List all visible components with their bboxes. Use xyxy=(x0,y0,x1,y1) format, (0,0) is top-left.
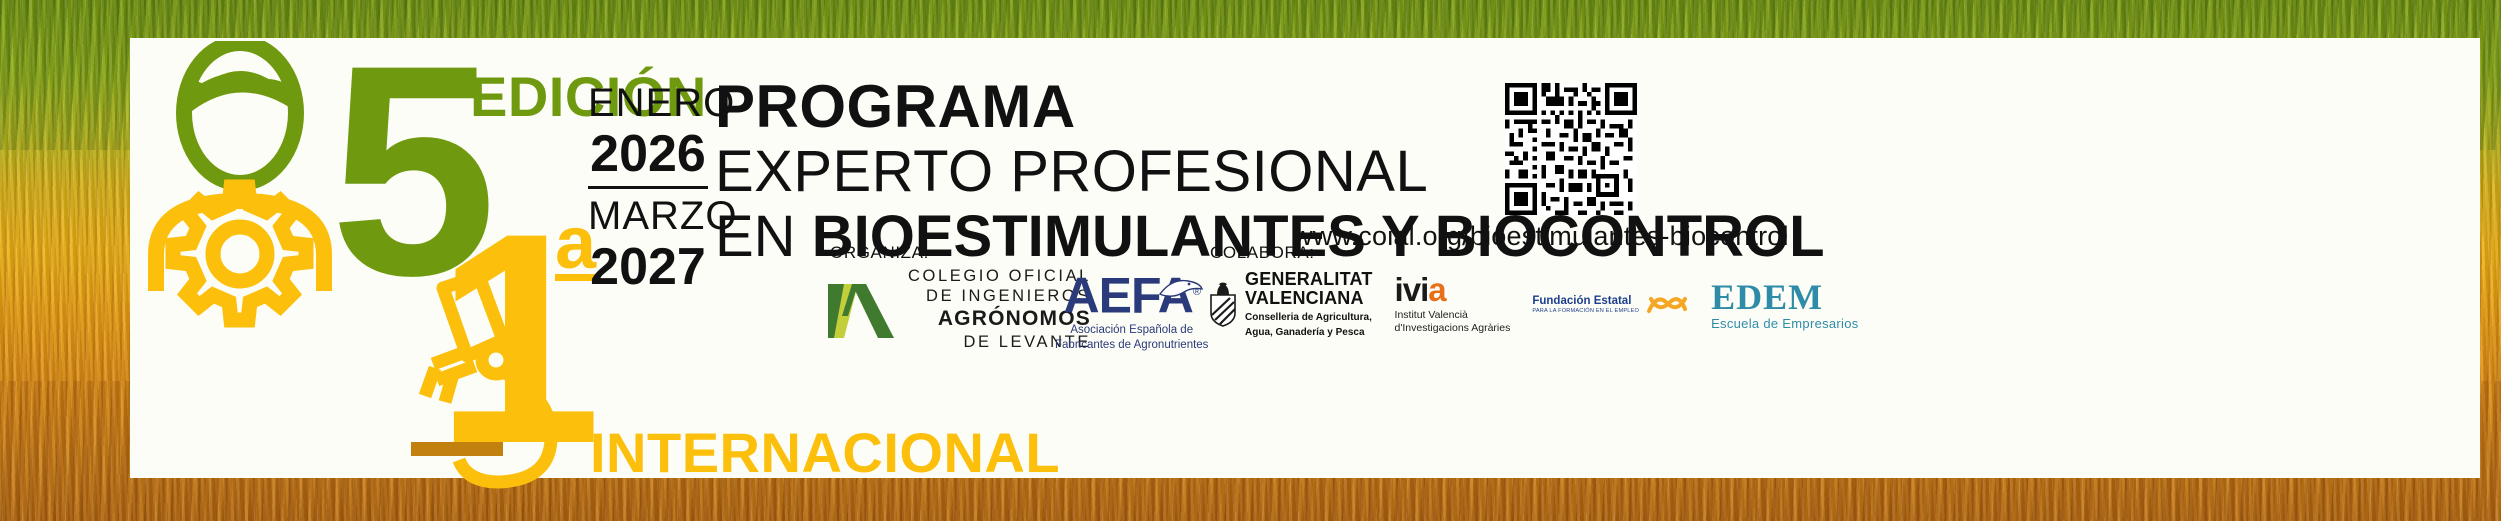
generalitat-valenciana-logo: GENERALITAT VALENCIANA Conselleria de Ag… xyxy=(1208,270,1373,339)
aefa-logo: AEFA® Asociación Española de Fabricantes… xyxy=(1055,266,1208,354)
fundacion-swirl-icon xyxy=(1645,291,1689,317)
colabora-label: COLABORA: xyxy=(1210,243,1315,263)
fundacion-name: Fundación Estatal xyxy=(1532,295,1639,308)
start-year: 2026 xyxy=(588,126,708,182)
ivia-subtitle: Institut Valencià d'Investigacions Agràr… xyxy=(1395,309,1511,335)
ivia-letter-i: i xyxy=(1420,271,1428,308)
fundacion-sub: PARA LA FORMACIÓN EN EL EMPLEO xyxy=(1532,308,1639,314)
coial-mark-icon xyxy=(828,276,898,342)
generalitat-sub-2: Agua, Ganadería y Pesca xyxy=(1245,327,1373,339)
ivia-wordmark: ivia xyxy=(1395,273,1511,308)
aefa-sub-line-2: Fabricantes de Agronutrientes xyxy=(1055,338,1208,354)
collaborator-logos: GENERALITAT VALENCIANA Conselleria de Ag… xyxy=(1208,270,1859,339)
qr-code[interactable] xyxy=(1505,83,1637,215)
generalitat-name-1: GENERALITAT xyxy=(1245,270,1373,289)
end-year: 2027 xyxy=(588,239,708,295)
international-label: INTERNACIONAL xyxy=(590,420,1060,485)
title-line-1: PROGRAMA xyxy=(715,74,1825,140)
fundacion-wordmark: Fundación Estatal PARA LA FORMACIÓN EN E… xyxy=(1532,295,1639,314)
edem-logo: EDEM Escuela de Empresarios xyxy=(1711,279,1859,330)
edem-wordmark: EDEM xyxy=(1711,279,1859,317)
aefa-wordmark: AEFA® xyxy=(1063,266,1199,322)
aefa-sub-line-1: Asociación Española de xyxy=(1055,323,1208,339)
edem-subtitle: Escuela de Empresarios xyxy=(1711,317,1859,331)
aefa-bird-icon xyxy=(1158,274,1204,304)
aefa-subtitle: Asociación Española de Fabricantes de Ag… xyxy=(1055,323,1208,354)
title-line-2: EXPERTO PROFESIONAL xyxy=(715,140,1825,204)
content-card: 5 EDICIÓN 1 a INTERNACIONAL ENERO 2026 M… xyxy=(130,38,2480,478)
generalitat-sub-1: Conselleria de Agricultura, xyxy=(1245,312,1373,324)
fundacion-estatal-logo: Fundación Estatal PARA LA FORMACIÓN EN E… xyxy=(1532,291,1689,317)
date-divider xyxy=(588,186,708,189)
ivia-sub-line-2: d'Investigacions Agràries xyxy=(1395,322,1511,335)
generalitat-name-2: VALENCIANA xyxy=(1245,289,1373,308)
event-banner: 5 EDICIÓN 1 a INTERNACIONAL ENERO 2026 M… xyxy=(0,0,2501,521)
generalitat-shield-icon xyxy=(1208,281,1238,327)
ivia-letter-a: a xyxy=(1428,271,1445,308)
ivia-letters-iv: iv xyxy=(1395,271,1421,308)
title-line-3-prefix: EN xyxy=(715,204,796,269)
organiza-label: ORGANIZA: xyxy=(830,243,929,263)
ivia-sub-line-1: Institut Valencià xyxy=(1395,309,1511,322)
coial-logo: COLEGIO OFICIAL DE INGENIEROS AGRÓNOMOS … xyxy=(828,266,1091,352)
generalitat-wordmark: GENERALITAT VALENCIANA Conselleria de Ag… xyxy=(1245,270,1373,339)
end-month: MARZO xyxy=(588,193,708,239)
program-url[interactable]: www.coial.org/bioestimulantes-biocontrol xyxy=(1293,221,1789,252)
ivia-logo: ivia Institut Valencià d'Investigacions … xyxy=(1395,273,1511,335)
start-month: ENERO xyxy=(588,80,708,126)
event-dates: ENERO 2026 MARZO 2027 xyxy=(588,80,708,295)
